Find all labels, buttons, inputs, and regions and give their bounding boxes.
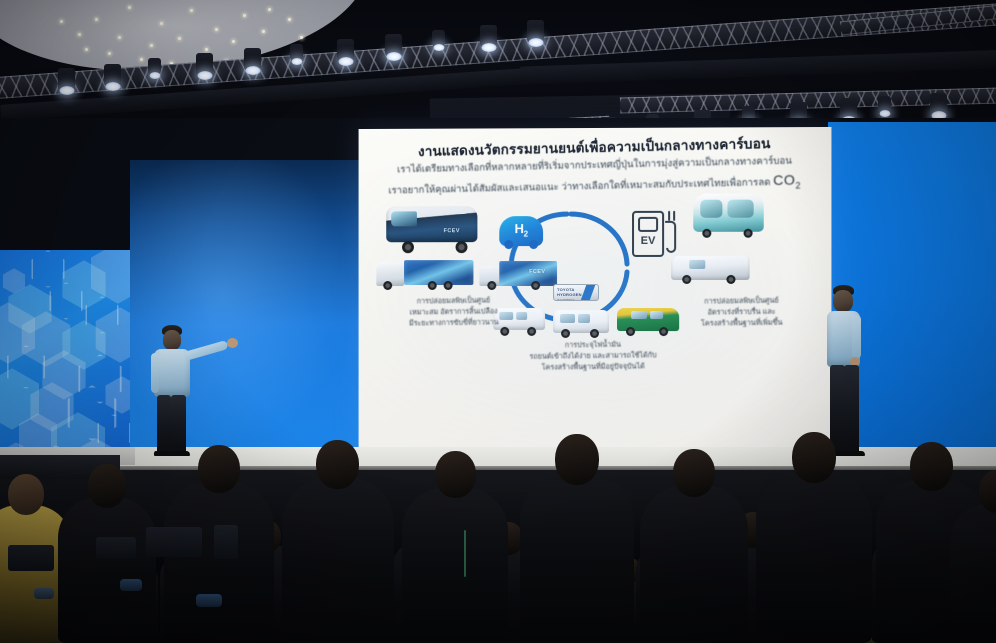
spotlight-fixture [196,53,213,77]
audience-member-head [88,464,126,508]
conference-photo-scene: งานแสดงนวัตกรรมยานยนต์เพื่อความเป็นกลางท… [0,0,996,643]
spotlight-fixture [58,68,75,92]
vehicle-fuel-cell-semi-truck [376,258,473,292]
spotlight-fixture [244,48,261,72]
left-presenter-arm-down [151,353,159,393]
right-presenter-arm [852,315,861,359]
ceiling-star-light [262,30,265,33]
ceiling-star-light [190,9,193,12]
audience-member [640,485,748,643]
led-panel-hexagon-graphic [0,250,130,455]
audience-member [520,473,634,643]
spotlight-fixture [290,44,303,62]
ceiling-star-light [150,44,153,47]
audience-silhouettes [0,430,996,643]
audience-member [164,481,274,643]
vehicle-fuel-cell-bus: FCEV [386,206,481,248]
spotlight-fixture [104,64,121,88]
svg-text:EV: EV [641,235,656,247]
vehicle-fuel-cell-box-truck: FCEV [479,260,557,292]
audience-member-head [792,432,836,483]
ceiling-star-light [178,37,181,40]
spotlight-fixture [480,25,497,49]
vehicle-white-pickup-truck [671,252,749,286]
ceiling-star-light [160,22,163,25]
ceiling-star-light [95,18,98,21]
ceiling-star-light [85,48,88,51]
hydrogen-label: H2 [499,221,543,239]
ceiling-star-light [78,33,81,36]
audience-chair-seat [120,579,142,591]
hydrogen-car-icon: H2 [499,216,547,250]
spotlight-fixture [930,93,947,117]
hydrogen-battery-icon: TOYOTA HYDROGEN SYSTEM [553,284,601,304]
truck-fcev-badge: FCEV [529,269,545,275]
audience-chair [214,525,238,559]
audience-lanyard [464,530,466,577]
audience-member [402,487,508,643]
ceiling-star-light [60,20,63,23]
ceiling-star-light [140,58,143,61]
audience-member-head [555,434,599,485]
left-presenter-head [163,330,181,350]
left-presenter-hand [227,338,238,348]
spotlight-fixture [878,96,891,114]
spotlight-fixture [148,58,161,76]
presentation-slide: งานแสดงนวัตกรรมยานยนต์เพื่อความเป็นกลางท… [359,127,832,449]
audience-member [950,503,996,643]
left-presenter-arm-extended [184,340,229,361]
ceiling-star-light [268,8,271,11]
audience-member-head [435,451,476,498]
ceiling-star-light [108,52,111,55]
audience-member-head [316,440,359,489]
ceiling-star-light [288,18,291,21]
vehicle-autonomous-shuttle-pod [693,193,763,239]
vehicle-mini-van-silver [553,310,609,338]
caption-left: การปล่อยมลพิษเป็นศูนย์ เหมาะสม อัตราการส… [374,295,533,329]
spotlight-fixture [337,39,354,63]
audience-chair-seat [34,588,54,599]
caption-right: การปล่อยมลพิษเป็นศูนย์ อัตราเร่งที่ราบรื… [661,295,823,330]
battery-label: TOYOTA HYDROGEN SYSTEM [557,287,582,301]
ceiling-star-light [215,28,218,31]
bus-fcev-badge: FCEV [444,228,460,234]
right-presenter-head [833,290,853,312]
ceiling-star-light [232,40,235,43]
ceiling-star-light [205,48,208,51]
co2-label: CO2 [773,171,801,188]
hexagon-graphic [32,250,65,288]
audience-member [282,477,394,643]
slide-diagram: FCEV FCEV [372,199,817,430]
audience-member-head [673,449,715,497]
ceiling-star-light [128,6,131,9]
audience-chair [8,545,54,571]
audience-chair [96,537,136,559]
spotlight-fixture [432,30,445,48]
ceiling-star-light [243,14,246,17]
caption-center: การประจุไฟน้ำมัน รถยนต์เข้าถึงได้ง่าย แล… [493,338,693,373]
audience-member [756,471,872,643]
ceiling-star-light [118,36,121,39]
audience-member-head [910,442,953,491]
audience-member-head [8,474,44,515]
audience-chair-seat [196,594,222,607]
audience-member [58,497,156,643]
audience-chair [146,527,202,557]
audience-member-head [198,445,240,493]
ceiling-star-light [300,36,303,39]
spotlight-fixture [385,34,402,58]
spotlight-fixture [527,20,544,44]
